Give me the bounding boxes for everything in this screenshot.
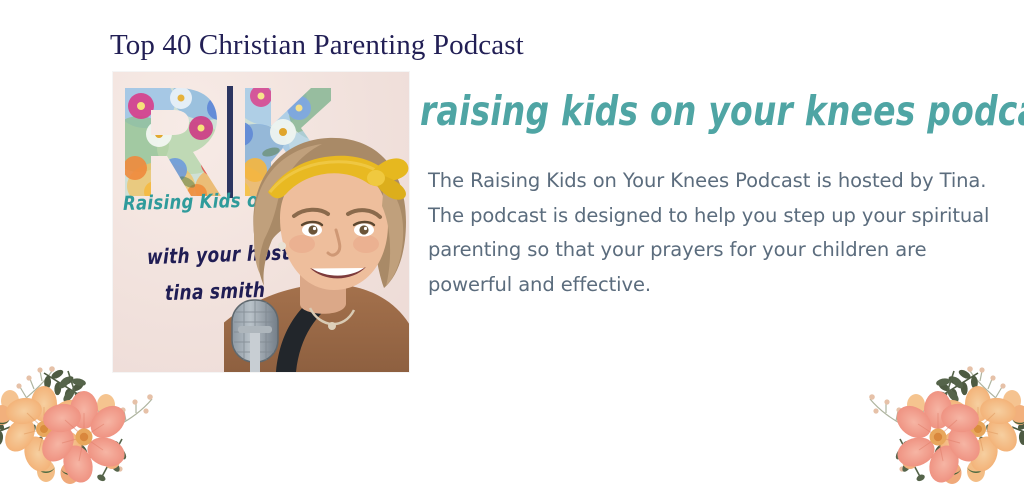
page-title: Top 40 Christian Parenting Podcast bbox=[110, 28, 524, 62]
host-portrait bbox=[224, 122, 409, 372]
podcast-promo-banner: Top 40 Christian Parenting Podcast bbox=[0, 0, 1024, 493]
floral-bouquet-right-icon bbox=[854, 353, 1024, 493]
podcast-description: The Raising Kids on Your Knees Podcast i… bbox=[428, 164, 1006, 302]
podcast-cover-art[interactable]: Raising Kids on Your Knees with your hos… bbox=[113, 72, 409, 372]
podcast-script-heading: raising kids on your knees podcast bbox=[420, 86, 1016, 136]
floral-bouquet-left-icon bbox=[0, 353, 168, 493]
